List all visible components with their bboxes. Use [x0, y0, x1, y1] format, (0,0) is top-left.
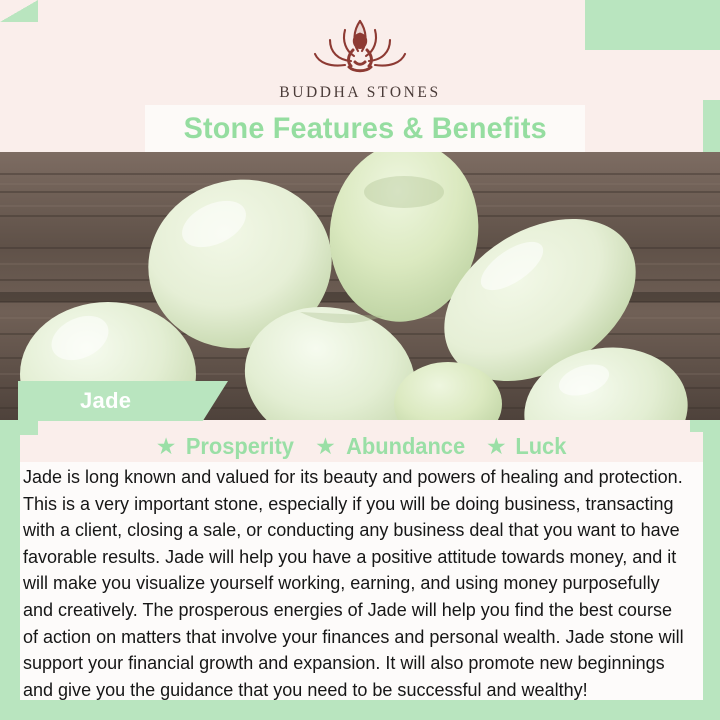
- brand-logo: BUDDHA STONES: [0, 14, 720, 102]
- description-text: Jade is long known and valued for its be…: [23, 464, 685, 703]
- stone-name-banner: Jade: [18, 381, 228, 421]
- benefit-item-luck: ★ Luck: [486, 433, 567, 460]
- benefit-label: Abundance: [346, 433, 465, 460]
- benefit-item-prosperity: ★ Prosperity: [156, 433, 297, 460]
- title-banner: Stone Features & Benefits: [145, 105, 585, 152]
- stone-name: Jade: [80, 388, 131, 414]
- description-panel: Jade is long known and valued for its be…: [20, 462, 703, 700]
- star-icon: ★: [315, 435, 336, 458]
- stone-photo-illustration: [0, 152, 720, 420]
- stone-photo: [0, 152, 720, 420]
- lotus-buddha-icon: [297, 14, 423, 80]
- brand-wordmark: BUDDHA STONES: [0, 84, 720, 102]
- benefit-label: Luck: [515, 433, 566, 460]
- benefits-row: ★ Prosperity ★ Abundance ★ Luck: [20, 430, 703, 462]
- benefit-item-abundance: ★ Abundance: [315, 433, 468, 460]
- star-icon: ★: [156, 435, 177, 458]
- benefit-label: Prosperity: [186, 433, 294, 460]
- decor-green-band-left-lower: [0, 420, 20, 720]
- star-icon: ★: [486, 435, 507, 458]
- product-info-card: BUDDHA STONES Stone Features & Benefits: [0, 0, 720, 720]
- page-title: Stone Features & Benefits: [183, 112, 546, 146]
